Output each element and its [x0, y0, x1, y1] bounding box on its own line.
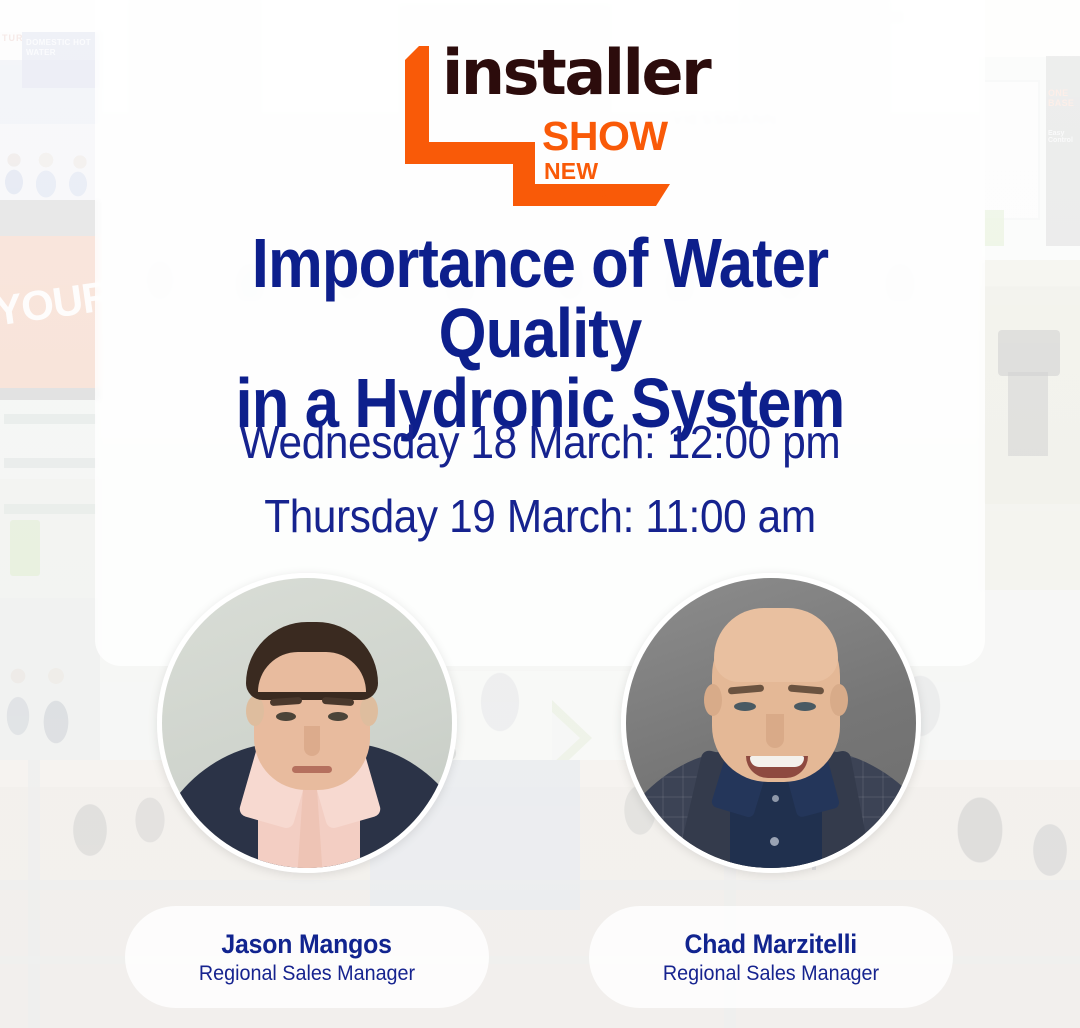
speaker-name: Chad Marzitelli: [685, 929, 858, 959]
headshot-image: [626, 578, 916, 868]
teeth: [750, 756, 804, 767]
bald-scalp: [714, 608, 838, 682]
eye-left: [734, 702, 756, 711]
logo-wordmark-new-york: NEW YORK: [544, 160, 670, 206]
session-dates: Wednesday 18 March: 12:00 pm Thursday 19…: [131, 405, 950, 553]
session-date-2: Thursday 19 March: 11:00 am: [131, 479, 950, 553]
logo-wordmark-installer: installer: [442, 42, 709, 104]
ear-left: [246, 696, 264, 726]
speaker-role: Regional Sales Manager: [663, 961, 879, 986]
installer-show-logo: installer SHOW NEW YORK: [405, 38, 670, 183]
ear-right: [360, 696, 378, 726]
mouth: [292, 766, 332, 773]
speaker-namecard-chad-marzitelli: Chad Marzitelli Regional Sales Manager: [589, 906, 953, 1008]
speaker-role: Regional Sales Manager: [199, 961, 415, 986]
speaker-portrait-chad-marzitelli: [621, 573, 921, 873]
shirt-button: [770, 837, 779, 846]
speaker-name: Jason Mangos: [222, 929, 392, 959]
speaker-portrait-jason-mangos: [157, 573, 457, 873]
eye-right: [328, 712, 348, 721]
page-title-line-1: Importance of Water Quality: [252, 224, 829, 372]
nose: [766, 714, 784, 748]
ear-right: [830, 684, 848, 716]
shirt-button: [772, 795, 779, 802]
hair: [246, 622, 378, 700]
logo-wordmark-show: SHOW: [542, 116, 668, 157]
promo-poster: DOMESTIC HOT WATER TUR YOUR EXPERTS VIES…: [0, 0, 1080, 1028]
eye-left: [276, 712, 296, 721]
logo-bracket-vertical-icon: [405, 46, 429, 154]
session-date-1: Wednesday 18 March: 12:00 pm: [131, 405, 950, 479]
ear-left: [704, 684, 722, 716]
eye-right: [794, 702, 816, 711]
speaker-namecard-jason-mangos: Jason Mangos Regional Sales Manager: [125, 906, 489, 1008]
nose: [304, 726, 320, 756]
headshot-image: [162, 578, 452, 868]
